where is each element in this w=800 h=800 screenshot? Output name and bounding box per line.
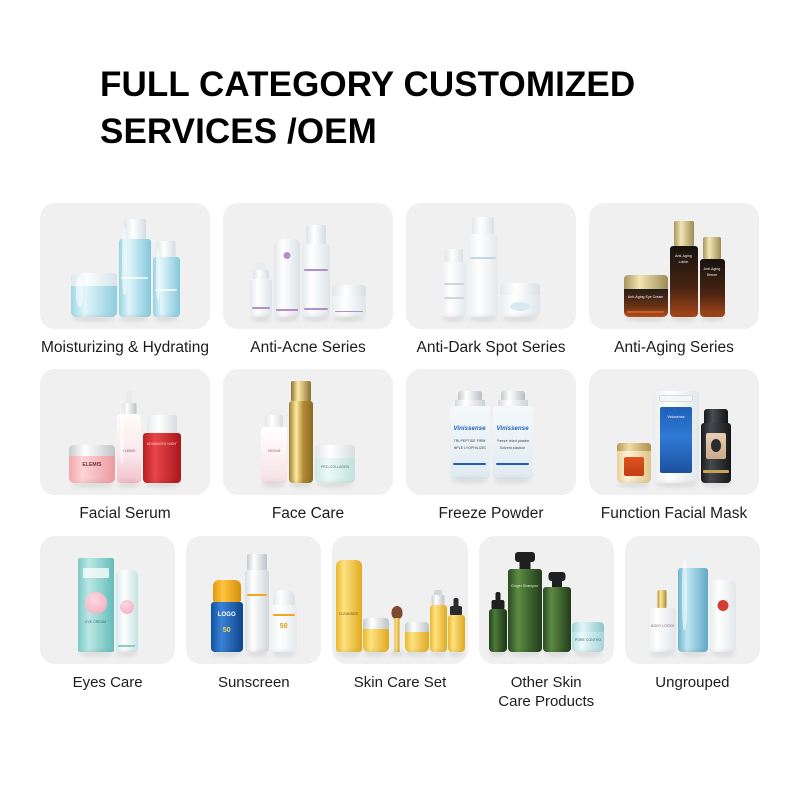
product-scene: Vinissense TRI-PEPTIDE FIRM MPLE LYOPHIL… [406,369,576,495]
product-mask-pouch: Vinissense [653,391,699,483]
product-vial-right: Vinissense Freeze dried powder Solvent s… [493,391,533,479]
category-card-anti-dark-spot-series[interactable]: Anti-Dark Spot Series [406,203,576,357]
product-bottle-red: ADVANCED NIGHT REPAIR [143,415,181,483]
category-image-moisturizing-hydrating [40,203,210,329]
product-scene [40,203,210,329]
product-brush [390,606,404,652]
category-label: Freeze Powder [406,495,576,523]
product-jar-yellow-small [405,622,429,652]
product-scene: LOGO 50 [186,536,321,664]
category-image-facial-serum: ELEMIS ELEMIS A [40,369,210,495]
product-jar [71,273,117,317]
category-card-eyes-care[interactable]: EYE CREAM Eyes Care [40,536,175,712]
product-vial-left: Vinissense TRI-PEPTIDE FIRM MPLE LYOPHIL… [450,391,490,479]
category-image-skin-care-set: CLEANSER [332,536,467,664]
product-pump-bottle: SERUM [261,409,287,483]
product-bottle-tall [119,219,151,317]
category-grid: Moisturizing & Hydrating [40,203,760,711]
product-bottle-tall: Anti-Aging Lotion [670,221,698,317]
category-row-3: EYE CREAM Eyes Care [40,536,760,712]
product-pump-small [250,263,272,317]
product-bottle-medium: Anti-Aging Serum [700,237,725,317]
product-bottle-tall [302,225,330,317]
product-scene: SERUM PRO-COLLAGEN [223,369,393,495]
category-image-anti-aging-series: Anti-Aging Eye Cream Anti-Aging Lotion [589,203,759,329]
product-bottle-medium [153,241,180,317]
product-jar-orange [617,443,651,483]
product-tube-yellow: CLEANSER [336,560,362,652]
category-card-sunscreen[interactable]: LOGO 50 [186,536,321,712]
product-jar-collagen: PRO-COLLAGEN [315,445,355,483]
product-jar: Anti-Aging Eye Cream [624,275,668,317]
category-image-other-skin-care-products: Ginger Shampoo PORE CONTROL [479,536,614,664]
product-sunscreen-blue: LOGO 50 [211,580,243,652]
product-sunscreen-silver [245,554,269,652]
category-image-ungrouped: BODY LOTION [625,536,760,664]
product-shampoo-pump: Ginger Shampoo [508,552,542,652]
product-scene: Vinissense [589,369,759,495]
category-card-ungrouped[interactable]: BODY LOTION [625,536,760,712]
product-scene: ELEMIS ELEMIS A [40,369,210,495]
product-category-page: FULL CATEGORY CUSTOMIZED SERVICES /OEM [0,0,800,800]
product-dropper-serum [448,598,465,652]
category-row-1: Moisturizing & Hydrating [40,203,760,357]
category-image-anti-acne-series [223,203,393,329]
category-label: Anti-Aging Series [589,329,759,357]
product-bottle-small [442,249,466,317]
category-row-2: ELEMIS ELEMIS A [40,369,760,523]
product-bottle-tall [468,217,498,317]
category-label: Sunscreen [186,664,321,693]
product-scene: CLEANSER [332,536,467,664]
category-card-moisturizing-hydrating[interactable]: Moisturizing & Hydrating [40,203,210,357]
product-bottle-gold [289,381,313,483]
category-card-anti-aging-series[interactable]: Anti-Aging Eye Cream Anti-Aging Lotion [589,203,759,357]
category-image-freeze-powder: Vinissense TRI-PEPTIDE FIRM MPLE LYOPHIL… [406,369,576,495]
category-label: Other Skin Care Products [479,664,614,712]
category-card-skin-care-set[interactable]: CLEANSER [332,536,467,712]
product-scene [406,203,576,329]
category-image-eyes-care: EYE CREAM [40,536,175,664]
category-card-face-care[interactable]: SERUM PRO-COLLAGEN [223,369,393,523]
category-label: Face Care [223,495,393,523]
product-tube [274,239,300,317]
product-blue-pump-bottle [678,552,708,652]
product-dropper-green [489,592,507,652]
category-card-anti-acne-series[interactable]: Anti-Acne Series [223,203,393,357]
product-jar-yellow-large [363,618,389,652]
category-card-freeze-powder[interactable]: Vinissense TRI-PEPTIDE FIRM MPLE LYOPHIL… [406,369,576,523]
page-title: FULL CATEGORY CUSTOMIZED SERVICES /OEM [100,62,760,155]
product-scene: BODY LOTION [625,536,760,664]
product-box: EYE CREAM [78,558,114,652]
category-label: Skin Care Set [332,664,467,693]
category-card-facial-serum[interactable]: ELEMIS ELEMIS A [40,369,210,523]
product-scene: Anti-Aging Eye Cream Anti-Aging Lotion [589,203,759,329]
category-card-other-skin-care-products[interactable]: Ginger Shampoo PORE CONTROL [479,536,614,712]
category-image-function-facial-mask: Vinissense [589,369,759,495]
product-jar [332,285,366,317]
category-label: Eyes Care [40,664,175,693]
category-label: Ungrouped [625,664,760,693]
product-jar-mint: PORE CONTROL [572,622,604,652]
product-perfume: BODY LOTION [648,590,676,652]
product-dropper-bottle: ELEMIS [117,391,141,483]
category-label: Facial Serum [40,495,210,523]
product-body-wash-pump [543,572,571,652]
category-label: Anti-Acne Series [223,329,393,357]
product-jar [500,283,540,317]
product-scene: EYE CREAM [40,536,175,664]
category-image-anti-dark-spot-series [406,203,576,329]
category-image-face-care: SERUM PRO-COLLAGEN [223,369,393,495]
product-pump-serum [430,590,447,652]
category-label: Function Facial Mask [589,495,759,523]
category-card-function-facial-mask[interactable]: Vinissense Function Facial M [589,369,759,523]
category-label: Anti-Dark Spot Series [406,329,576,357]
category-image-sunscreen: LOGO 50 [186,536,321,664]
product-eye-tube [116,570,138,652]
product-scene: Ginger Shampoo PORE CONTROL [479,536,614,664]
product-jar-elemis: ELEMIS [69,445,115,483]
product-scene [223,203,393,329]
category-label: Moisturizing & Hydrating [40,329,210,357]
product-white-tube [710,580,736,652]
product-sunscreen-white: 50 [271,590,297,652]
product-bottle-black [701,409,731,483]
